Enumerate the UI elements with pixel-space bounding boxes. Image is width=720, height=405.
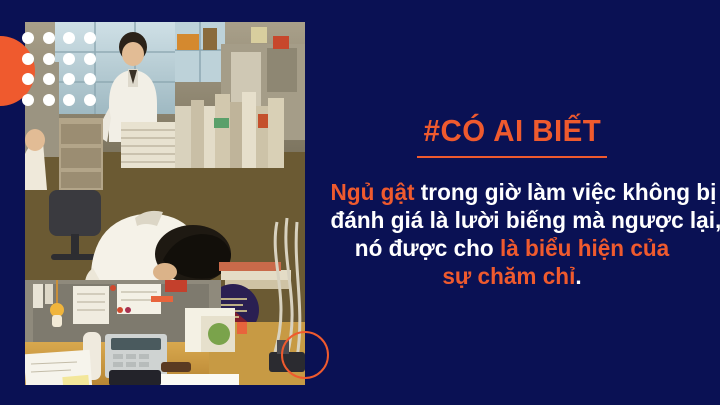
body-highlight: sự chăm chỉ bbox=[442, 263, 575, 289]
dot bbox=[63, 32, 75, 44]
dot bbox=[43, 32, 55, 44]
body-plain: đánh giá là lười biếng mà ngược lại, bbox=[331, 207, 720, 233]
dot bbox=[84, 94, 96, 106]
dot bbox=[84, 32, 96, 44]
body-plain: trong giờ làm việc không bị bbox=[415, 179, 717, 205]
body-line: sự chăm chỉ. bbox=[331, 262, 694, 290]
dot bbox=[84, 53, 96, 65]
dot bbox=[43, 94, 55, 106]
page-title: #CÓ AI BIẾT bbox=[423, 115, 601, 148]
dot bbox=[22, 73, 34, 85]
dot bbox=[43, 73, 55, 85]
dot bbox=[43, 53, 55, 65]
dot-grid-decoration bbox=[22, 32, 104, 114]
body-highlight: là biểu hiện của bbox=[500, 235, 669, 261]
dot bbox=[22, 94, 34, 106]
dot bbox=[63, 94, 75, 106]
body-plain: nó được cho bbox=[355, 235, 500, 261]
sleeping-man bbox=[85, 211, 231, 290]
dot bbox=[63, 53, 75, 65]
orange-ring-decoration bbox=[281, 331, 329, 379]
title-underline bbox=[417, 156, 607, 158]
body-plain: . bbox=[575, 263, 581, 289]
body-highlight: Ngủ gật bbox=[331, 179, 415, 205]
body-line: nó được cho là biểu hiện của bbox=[331, 234, 694, 262]
dot bbox=[22, 32, 34, 44]
dot bbox=[63, 73, 75, 85]
dot bbox=[84, 73, 96, 85]
text-column: #CÓ AI BIẾT Ngủ gật trong giờ làm việc k… bbox=[322, 0, 702, 405]
dot bbox=[22, 53, 34, 65]
body-line: đánh giá là lười biếng mà ngược lại, bbox=[331, 206, 694, 234]
social-card: #CÓ AI BIẾT Ngủ gật trong giờ làm việc k… bbox=[0, 0, 720, 405]
body-line: Ngủ gật trong giờ làm việc không bị bbox=[331, 178, 694, 206]
body-text: Ngủ gật trong giờ làm việc không bịđánh … bbox=[331, 178, 694, 290]
